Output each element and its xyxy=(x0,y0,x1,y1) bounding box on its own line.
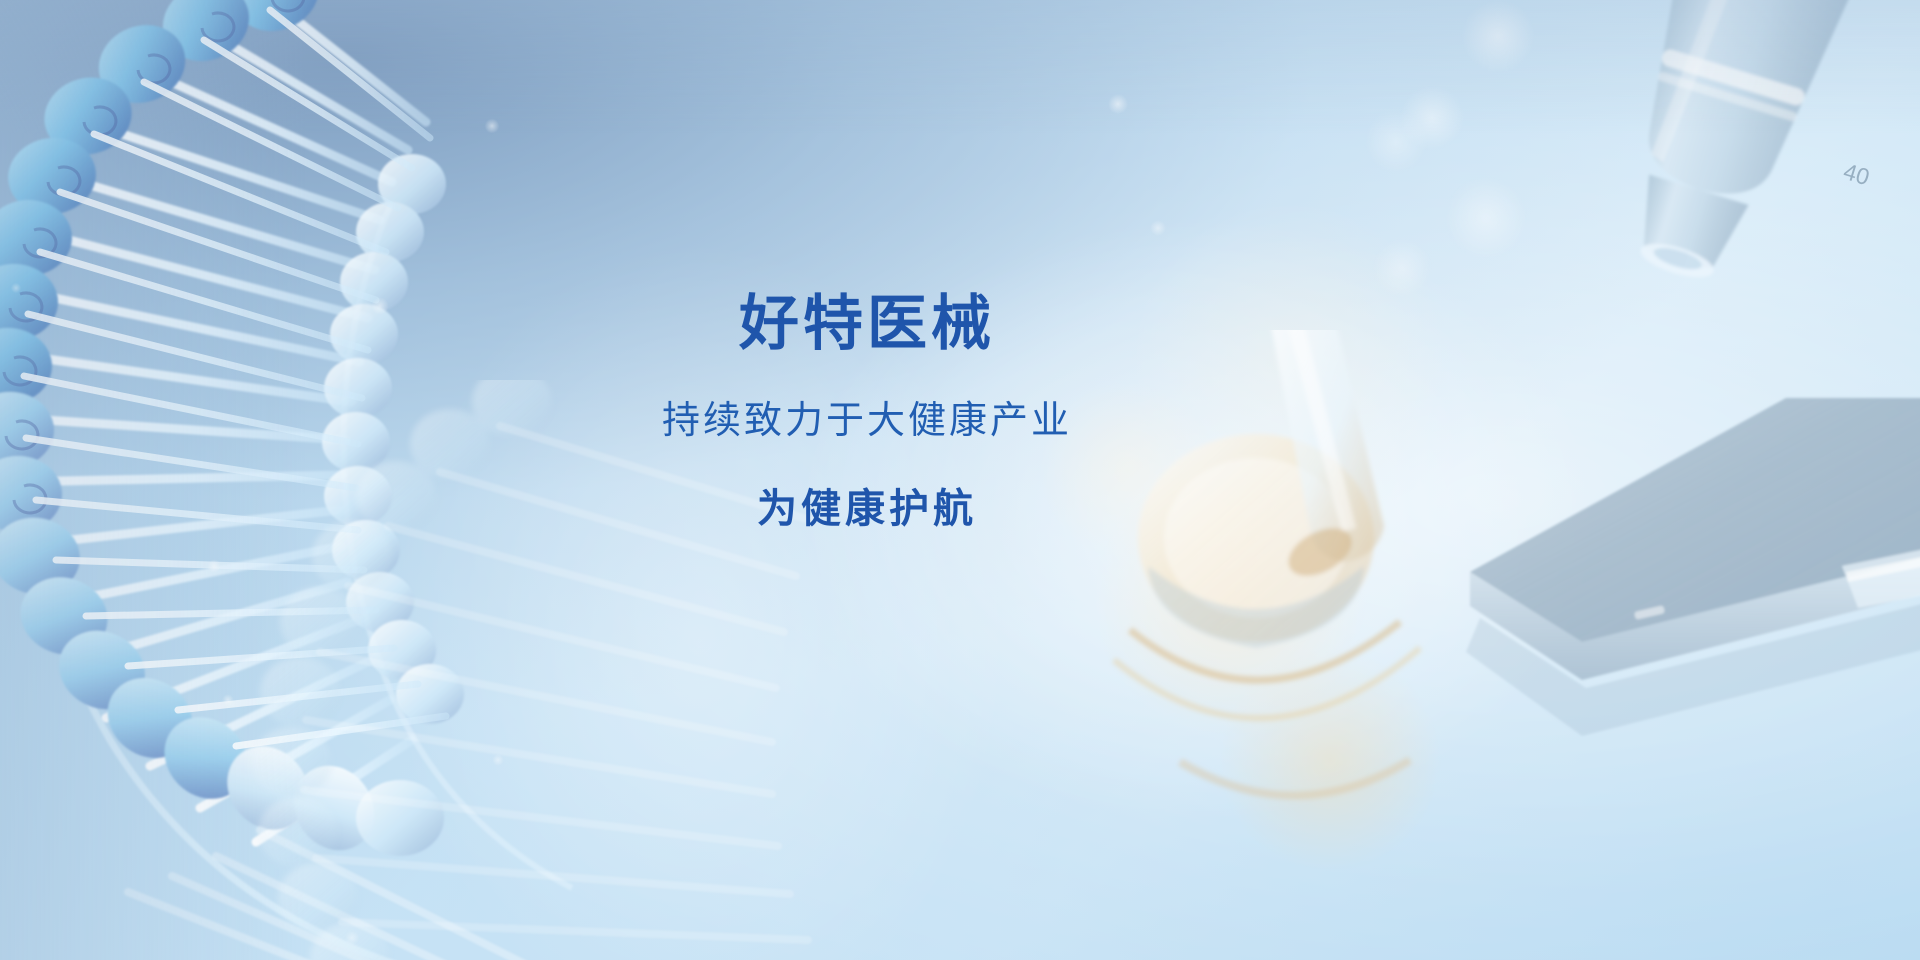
microscope-lens-label: 40 xyxy=(1841,158,1873,190)
page-title: 好特医械 xyxy=(0,292,1920,357)
dna-helix-secondary-icon xyxy=(120,380,940,960)
hero-slogan: 为健康护航 xyxy=(0,487,1920,531)
hero-tagline: 持续致力于大健康产业 xyxy=(0,401,1920,443)
hero-banner: 40 xyxy=(0,0,1920,960)
hero-text-block: 好特医械 持续致力于大健康产业 为健康护航 xyxy=(0,292,1920,531)
microscope-stage-icon xyxy=(1230,380,1920,810)
